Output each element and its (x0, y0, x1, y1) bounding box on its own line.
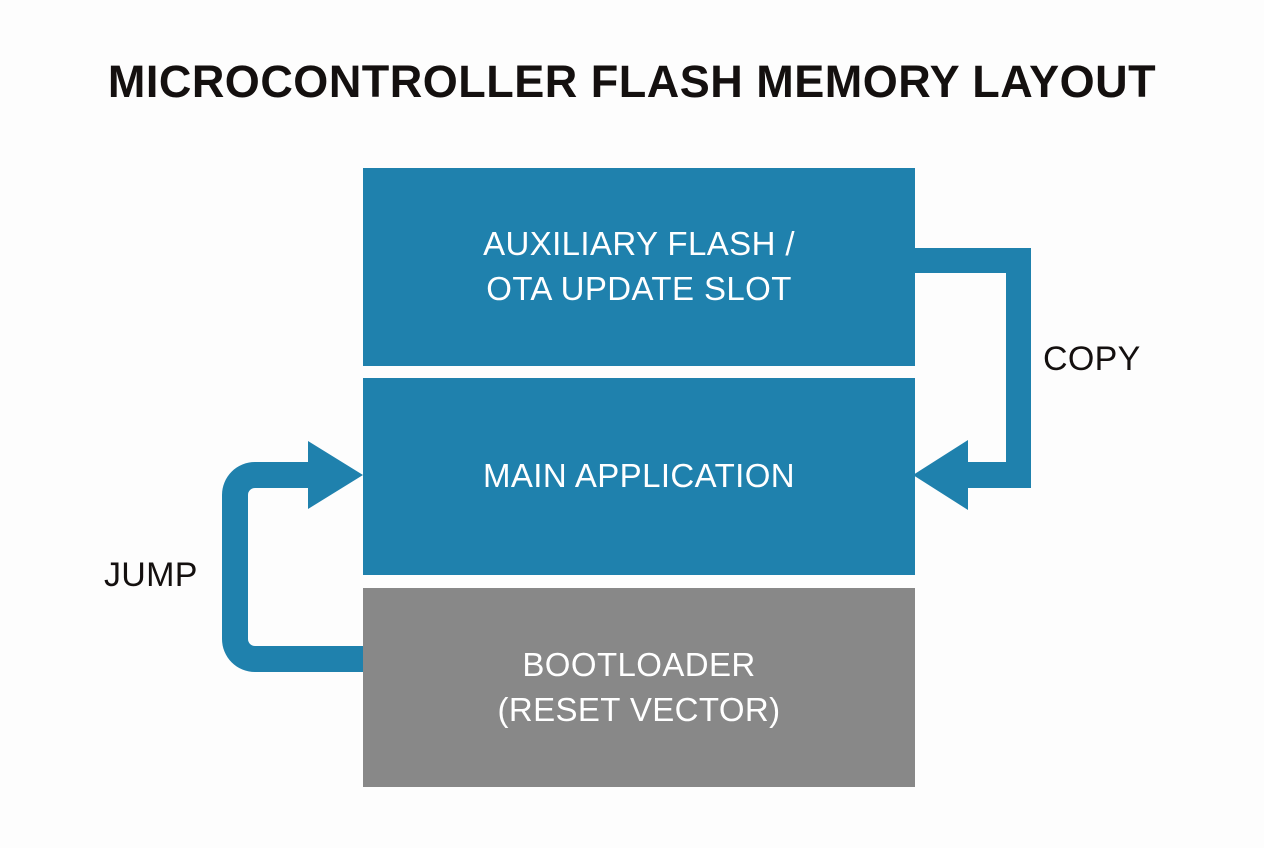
memory-block-auxiliary-flash-line1: AUXILIARY FLASH / (483, 222, 795, 267)
memory-block-auxiliary-flash-line2: OTA UPDATE SLOT (483, 267, 795, 312)
memory-block-bootloader-line1: BOOTLOADER (497, 643, 780, 688)
memory-block-main-application[interactable]: MAIN APPLICATION (363, 378, 915, 575)
diagram-canvas: MICROCONTROLLER FLASH MEMORY LAYOUT AUXI… (0, 0, 1264, 848)
jump-arrow (222, 441, 363, 672)
memory-block-bootloader[interactable]: BOOTLOADER (RESET VECTOR) (363, 588, 915, 787)
copy-arrow-shape (913, 248, 1031, 510)
memory-block-bootloader-line2: (RESET VECTOR) (497, 688, 780, 733)
memory-block-main-application-line1: MAIN APPLICATION (483, 454, 795, 499)
memory-block-auxiliary-flash[interactable]: AUXILIARY FLASH / OTA UPDATE SLOT (363, 168, 915, 366)
copy-arrow (913, 248, 1031, 510)
copy-arrow-label: COPY (1043, 340, 1141, 379)
page-title: MICROCONTROLLER FLASH MEMORY LAYOUT (0, 56, 1264, 108)
jump-arrow-shape (222, 441, 363, 672)
jump-arrow-label: JUMP (104, 556, 198, 595)
memory-block-main-application-label: MAIN APPLICATION (483, 454, 795, 499)
memory-block-auxiliary-flash-label: AUXILIARY FLASH / OTA UPDATE SLOT (483, 222, 795, 311)
memory-block-bootloader-label: BOOTLOADER (RESET VECTOR) (497, 643, 780, 732)
